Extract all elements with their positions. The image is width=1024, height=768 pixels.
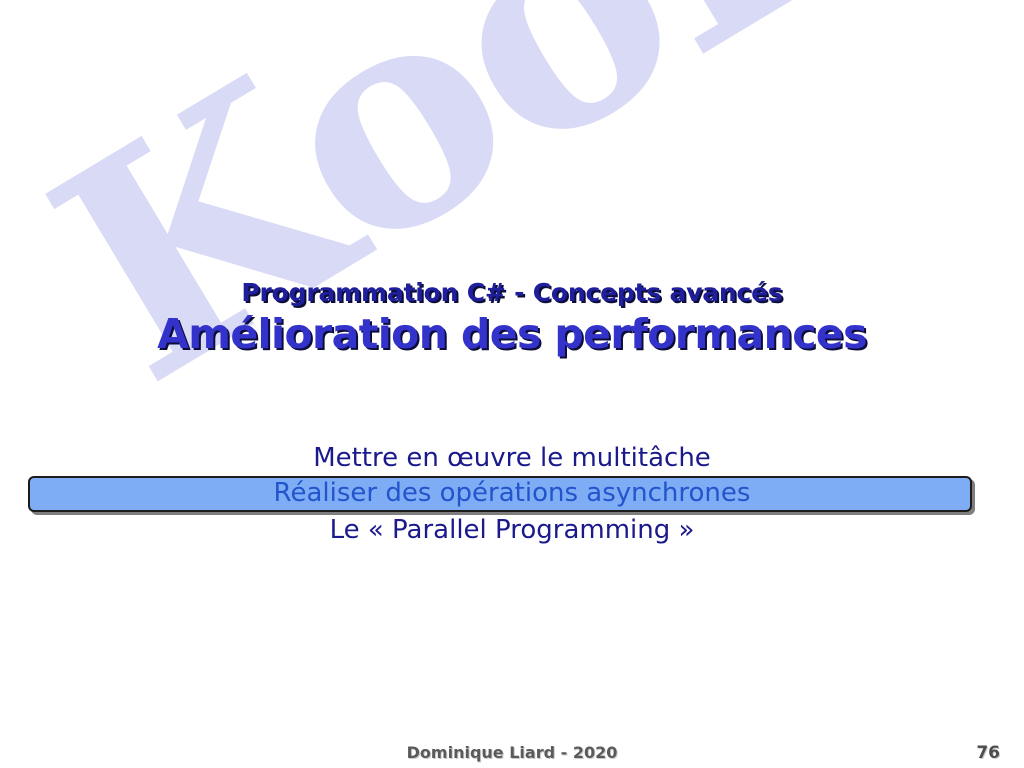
- slide-footer: Dominique Liard - 2020 76: [0, 742, 1024, 768]
- page-title: Amélioration des performances: [0, 310, 1024, 358]
- slide-title-block: Programmation C# - Concepts avancés Amél…: [0, 278, 1024, 358]
- agenda-item-asynchrones[interactable]: Réaliser des opérations asynchrones: [0, 476, 1024, 512]
- watermark-layer: KooB.fr: [0, 0, 1024, 768]
- footer-author: Dominique Liard - 2020: [0, 742, 1024, 764]
- course-subtitle: Programmation C# - Concepts avancés: [0, 278, 1024, 308]
- agenda-list: Mettre en œuvre le multitâche Réaliser d…: [0, 440, 1024, 548]
- presentation-slide: KooB.fr Programmation C# - Concepts avan…: [0, 0, 1024, 768]
- agenda-item-parallel-programming[interactable]: Le « Parallel Programming »: [0, 512, 1024, 548]
- agenda-item-multitache[interactable]: Mettre en œuvre le multitâche: [0, 440, 1024, 476]
- agenda-item-asynchrones-label: Réaliser des opérations asynchrones: [0, 476, 1024, 510]
- footer-page-number: 76: [976, 742, 1000, 764]
